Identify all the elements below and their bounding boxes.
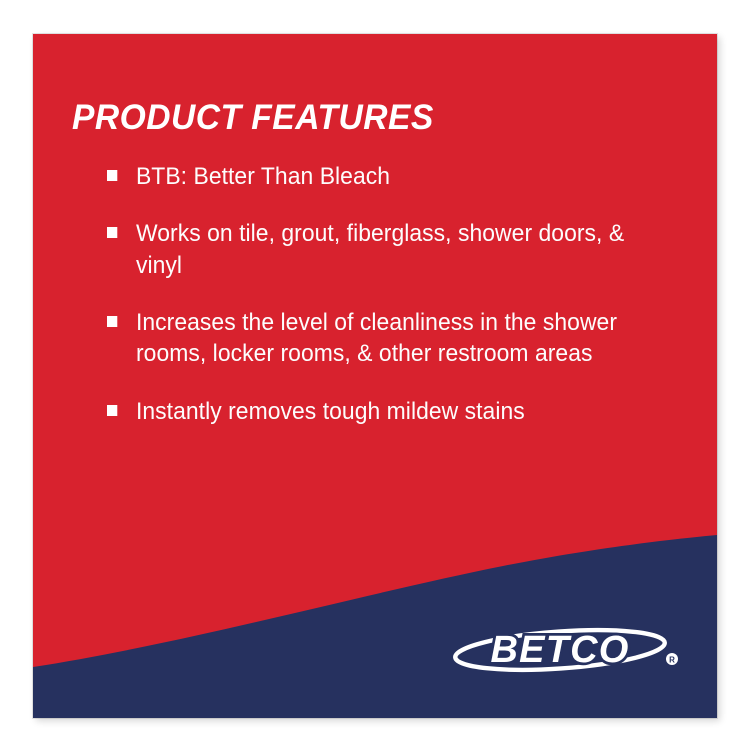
betco-logo: BETCO R: [452, 619, 682, 679]
page-title: PRODUCT FEATURES: [72, 100, 434, 135]
product-card: PRODUCT FEATURES BTB: Better Than Bleach…: [33, 34, 717, 718]
square-bullet-icon: [107, 405, 117, 416]
feature-text: Instantly removes tough mildew stains: [136, 396, 668, 427]
feature-text: Works on tile, grout, fiberglass, shower…: [136, 218, 668, 281]
feature-text: Increases the level of cleanliness in th…: [136, 307, 668, 370]
square-bullet-icon: [107, 227, 117, 238]
betco-wordmark: BETCO: [491, 629, 630, 671]
square-bullet-icon: [107, 170, 117, 181]
list-item: BTB: Better Than Bleach: [107, 161, 668, 192]
registered-trademark-icon: R: [666, 653, 678, 665]
svg-text:R: R: [669, 656, 675, 665]
product-feature-card-image: PRODUCT FEATURES BTB: Better Than Bleach…: [0, 0, 750, 750]
betco-logo-graphic: BETCO R: [452, 619, 682, 679]
list-item: Instantly removes tough mildew stains: [107, 396, 668, 427]
list-item: Increases the level of cleanliness in th…: [107, 307, 668, 370]
feature-text: BTB: Better Than Bleach: [136, 161, 668, 192]
feature-list: BTB: Better Than Bleach Works on tile, g…: [107, 161, 707, 427]
list-item: Works on tile, grout, fiberglass, shower…: [107, 218, 668, 281]
square-bullet-icon: [107, 316, 117, 327]
